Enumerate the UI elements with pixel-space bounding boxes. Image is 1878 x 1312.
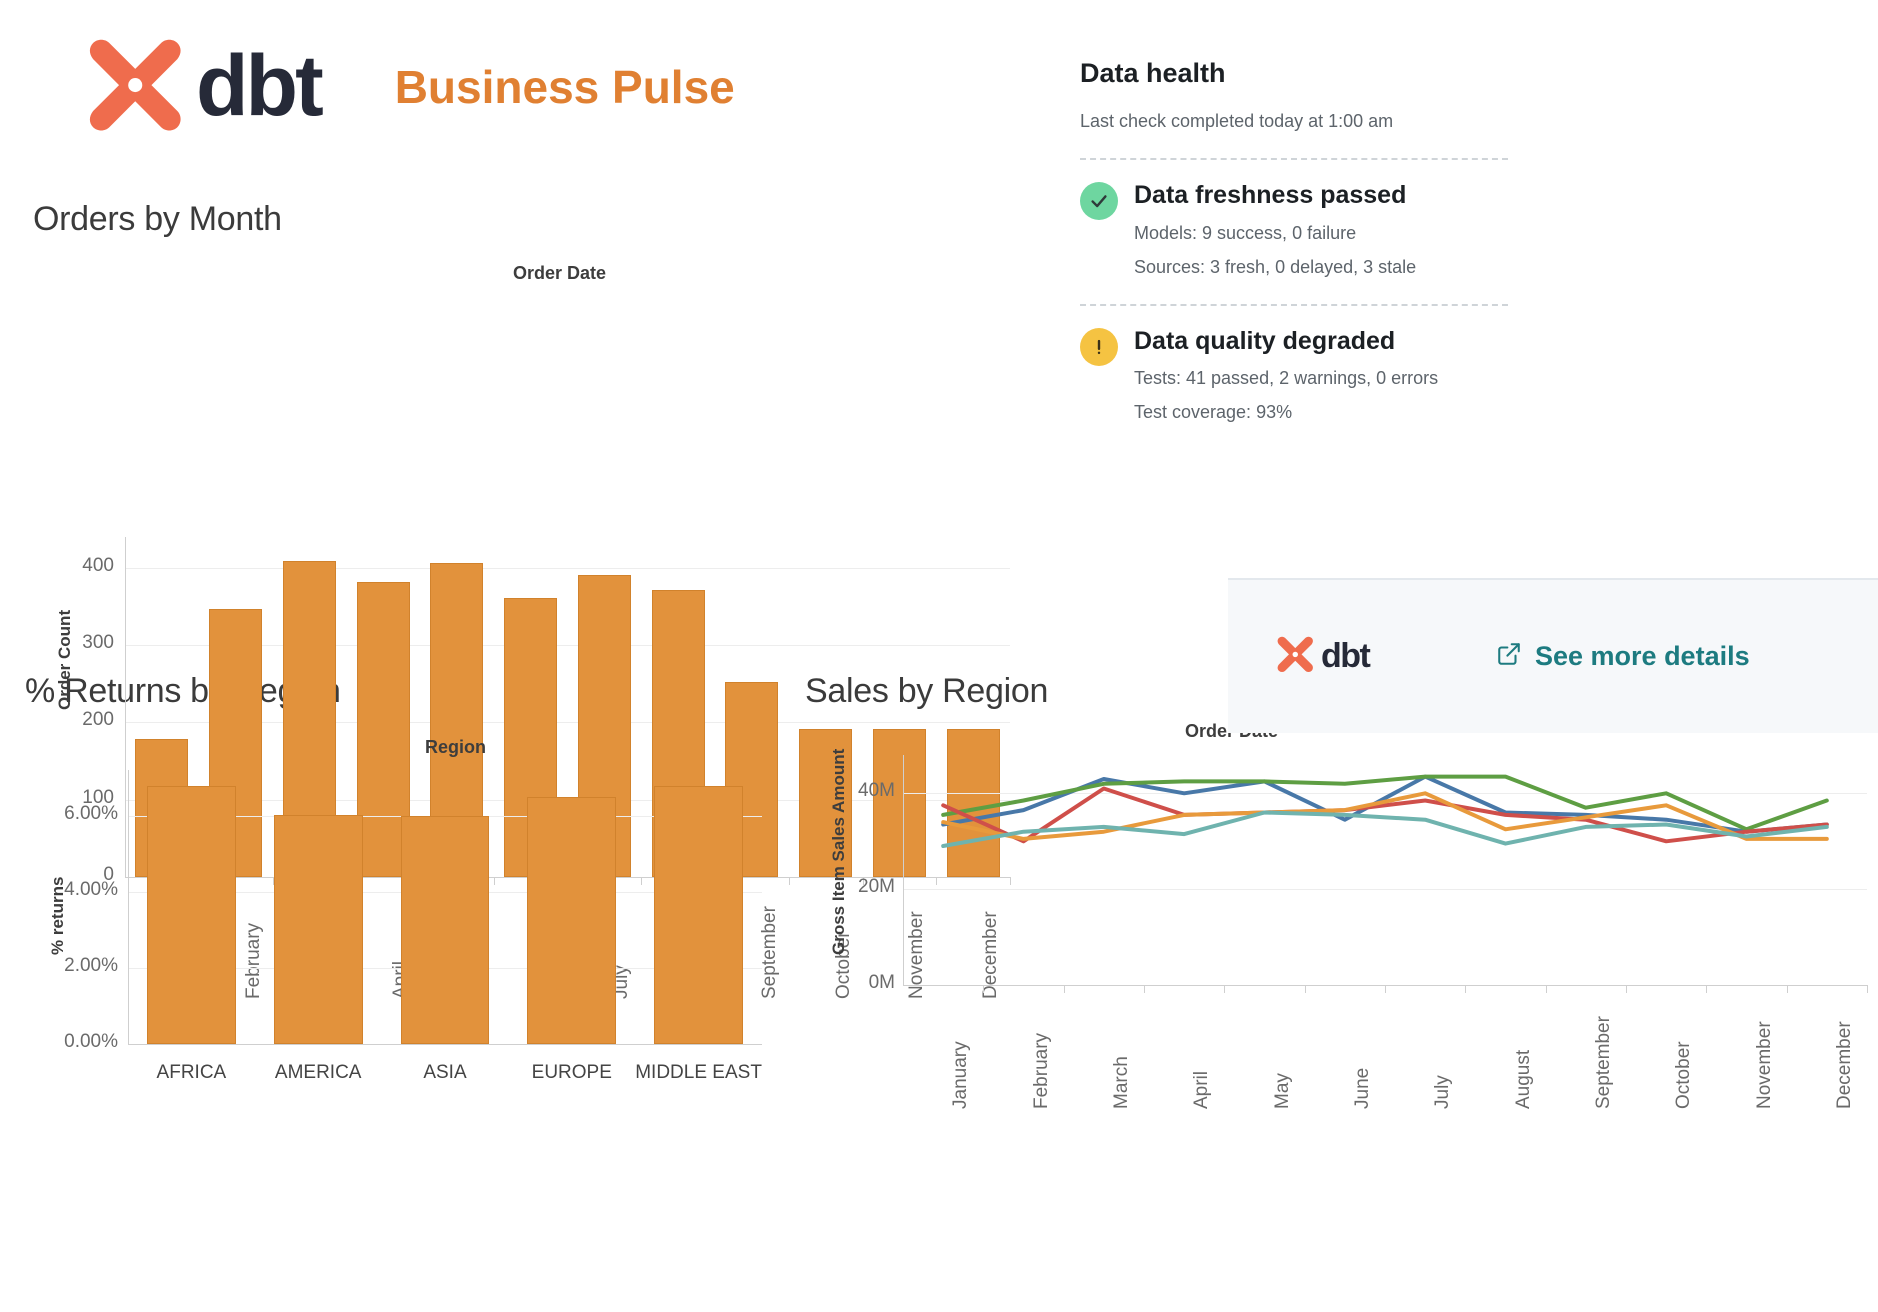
y-axis-title: Order Count [55, 610, 75, 710]
x-axis-label: September [1593, 1016, 1615, 1109]
x-axis-label: February [1031, 1033, 1053, 1109]
y-axis-tick-label: 20M [845, 876, 895, 898]
orders-by-month-chart: Order DateOrder Count0100200300400Januar… [0, 255, 1020, 635]
line-series-series-blue [943, 777, 1827, 832]
y-axis-tick-label: 0.00% [60, 1031, 118, 1053]
x-axis-label: EUROPE [508, 1062, 635, 1084]
x-axis-label: July [1432, 1075, 1454, 1109]
x-axis-label: AFRICA [128, 1062, 255, 1084]
orders-by-month-title: Orders by Month [33, 200, 282, 239]
chart-caption: Order Date [513, 263, 606, 284]
data-health-panel: Data health Last check completed today a… [1080, 58, 1510, 423]
gridline [903, 889, 1867, 890]
bar [527, 797, 616, 1044]
x-axis-tick [1224, 985, 1225, 993]
y-axis-tick-label: 4.00% [60, 879, 118, 901]
health-item-freshness: Data freshness passed Models: 9 success,… [1080, 182, 1510, 278]
see-more-details-card[interactable]: dbt See more details [1228, 578, 1878, 733]
dbt-x-logo-icon [78, 30, 186, 143]
warning-circle-icon [1080, 328, 1118, 366]
page-title: Business Pulse [395, 60, 735, 114]
dashboard-header: dbt Business Pulse [78, 30, 735, 143]
x-axis-tick [1305, 985, 1306, 993]
y-axis-tick-label: 2.00% [60, 955, 118, 977]
data-health-heading: Data health [1080, 58, 1510, 89]
dbt-logo: dbt [78, 30, 321, 143]
x-axis-label: MIDDLE EAST [635, 1062, 762, 1084]
line-series-series-teal [943, 813, 1827, 847]
x-axis-label: April [1191, 1071, 1213, 1109]
x-axis-label: November [1754, 1021, 1776, 1109]
y-axis-tick-label: 400 [70, 555, 114, 577]
sales-by-region-chart: Order DateGross Item Sales Amount0M20M40… [805, 725, 1875, 1115]
x-axis-tick [1626, 985, 1627, 993]
y-axis-line [903, 755, 904, 985]
external-link-icon [1496, 641, 1522, 672]
x-axis-tick [1144, 985, 1145, 993]
sales-by-region-title: Sales by Region [805, 672, 1048, 711]
y-axis-tick-label: 0M [845, 972, 895, 994]
x-axis-tick [1546, 985, 1547, 993]
health-item-quality: Data quality degraded Tests: 41 passed, … [1080, 328, 1510, 424]
health-item-line: Sources: 3 fresh, 0 delayed, 3 stale [1134, 257, 1416, 278]
divider [1080, 304, 1508, 306]
health-item-line: Test coverage: 93% [1134, 402, 1438, 423]
dbt-x-logo-icon [1273, 633, 1315, 680]
x-axis-label: March [1111, 1056, 1133, 1109]
bar [274, 815, 363, 1044]
x-axis-label: June [1352, 1068, 1374, 1109]
divider [1080, 158, 1508, 160]
returns-by-region-chart: Region% returns0.00%2.00%4.00%6.00%AFRIC… [0, 725, 800, 1100]
x-axis-tick [1385, 985, 1386, 993]
y-axis-tick-label: 6.00% [60, 803, 118, 825]
check-circle-icon [1080, 182, 1118, 220]
x-axis-tick [1706, 985, 1707, 993]
bar [401, 816, 490, 1044]
data-health-subtitle: Last check completed today at 1:00 am [1080, 111, 1510, 132]
x-axis-label: August [1513, 1050, 1535, 1109]
bar [147, 786, 236, 1044]
dbt-logo-small: dbt [1273, 633, 1369, 680]
x-axis-label: AMERICA [255, 1062, 382, 1084]
x-axis-tick [983, 985, 984, 993]
line-series-series-red [943, 789, 1827, 842]
x-axis-label: May [1272, 1073, 1294, 1109]
line-series-series-orange [943, 793, 1827, 839]
x-axis-tick [1465, 985, 1466, 993]
dbt-wordmark: dbt [1321, 637, 1369, 676]
health-item-line: Models: 9 success, 0 failure [1134, 223, 1416, 244]
x-axis-label: ASIA [382, 1062, 509, 1084]
see-more-details-link[interactable]: See more details [1496, 641, 1750, 672]
see-more-details-label: See more details [1535, 641, 1750, 672]
health-item-title: Data quality degraded [1134, 328, 1438, 356]
y-axis-tick-label: 300 [70, 632, 114, 654]
health-item-line: Tests: 41 passed, 2 warnings, 0 errors [1134, 368, 1438, 389]
health-item-title: Data freshness passed [1134, 182, 1416, 210]
x-axis-label: October [1673, 1041, 1695, 1109]
bar [654, 786, 743, 1044]
x-axis-tick [1064, 985, 1065, 993]
x-axis-line [128, 1044, 762, 1045]
dbt-wordmark: dbt [196, 48, 321, 125]
line-series-series-green [943, 777, 1827, 830]
x-axis-label: December [1834, 1021, 1856, 1109]
y-axis-tick-label: 40M [845, 780, 895, 802]
chart-caption: Region [425, 737, 486, 758]
x-axis-label: January [950, 1041, 972, 1109]
gridline [125, 568, 1010, 569]
y-axis-line [128, 770, 129, 1044]
x-axis-tick [1867, 985, 1868, 993]
x-axis-tick [1787, 985, 1788, 993]
gridline [903, 793, 1867, 794]
